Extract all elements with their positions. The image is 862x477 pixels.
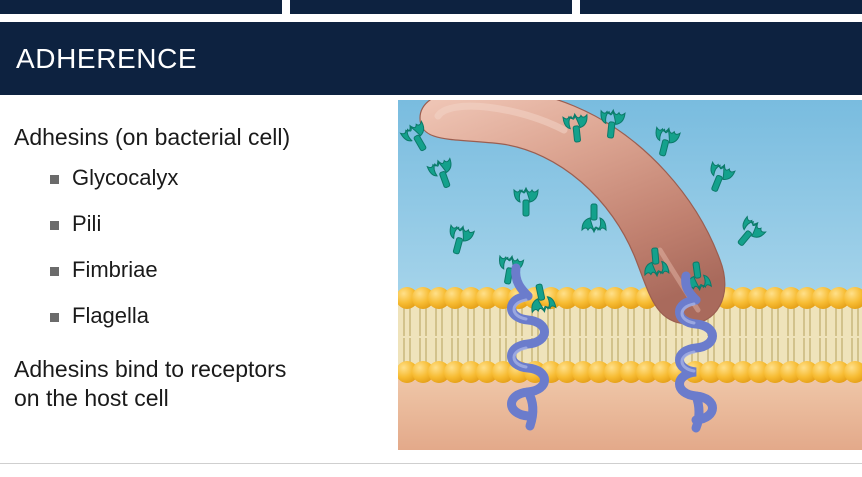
bullet-square-icon	[50, 221, 59, 230]
membrane-bilayer	[398, 287, 862, 383]
bullet-list: Glycocalyx Pili Fimbriae Flagella	[14, 166, 384, 329]
slide-text-column: Adhesins (on bacterial cell) Glycocalyx …	[14, 123, 384, 414]
list-item-label: Glycocalyx	[72, 165, 178, 190]
slide-bottom-divider	[0, 463, 862, 464]
list-item-label: Fimbriae	[72, 257, 158, 282]
bullet-square-icon	[50, 175, 59, 184]
slide-body: Adhesins (on bacterial cell) Glycocalyx …	[0, 95, 862, 463]
closing-line-1: Adhesins bind to receptors	[14, 355, 384, 385]
adjacent-slide-segment-left	[0, 0, 282, 14]
list-item-label: Flagella	[72, 303, 149, 328]
adjacent-slide-segment-center	[290, 0, 572, 14]
list-item: Glycocalyx	[50, 166, 384, 190]
bullet-square-icon	[50, 267, 59, 276]
list-item-label: Pili	[72, 211, 101, 236]
slide-title-bar: ADHERENCE	[0, 22, 862, 95]
phospholipid-heads-lower	[398, 361, 862, 383]
phospholipid-heads-upper	[398, 287, 862, 309]
bullet-square-icon	[50, 313, 59, 322]
closing-paragraph: Adhesins bind to receptors on the host c…	[14, 355, 384, 415]
list-item: Pili	[50, 212, 384, 236]
list-item: Flagella	[50, 304, 384, 328]
lead-paragraph: Adhesins (on bacterial cell)	[14, 123, 384, 152]
page-title: ADHERENCE	[0, 43, 197, 75]
adjacent-slides-strip	[0, 0, 862, 22]
slide: ADHERENCE Adhesins (on bacterial cell) G…	[0, 0, 862, 477]
adjacent-slide-segment-right	[580, 0, 862, 14]
list-item: Fimbriae	[50, 258, 384, 282]
closing-line-2: on the host cell	[14, 384, 384, 414]
bacterium-adherence-figure	[398, 100, 862, 450]
